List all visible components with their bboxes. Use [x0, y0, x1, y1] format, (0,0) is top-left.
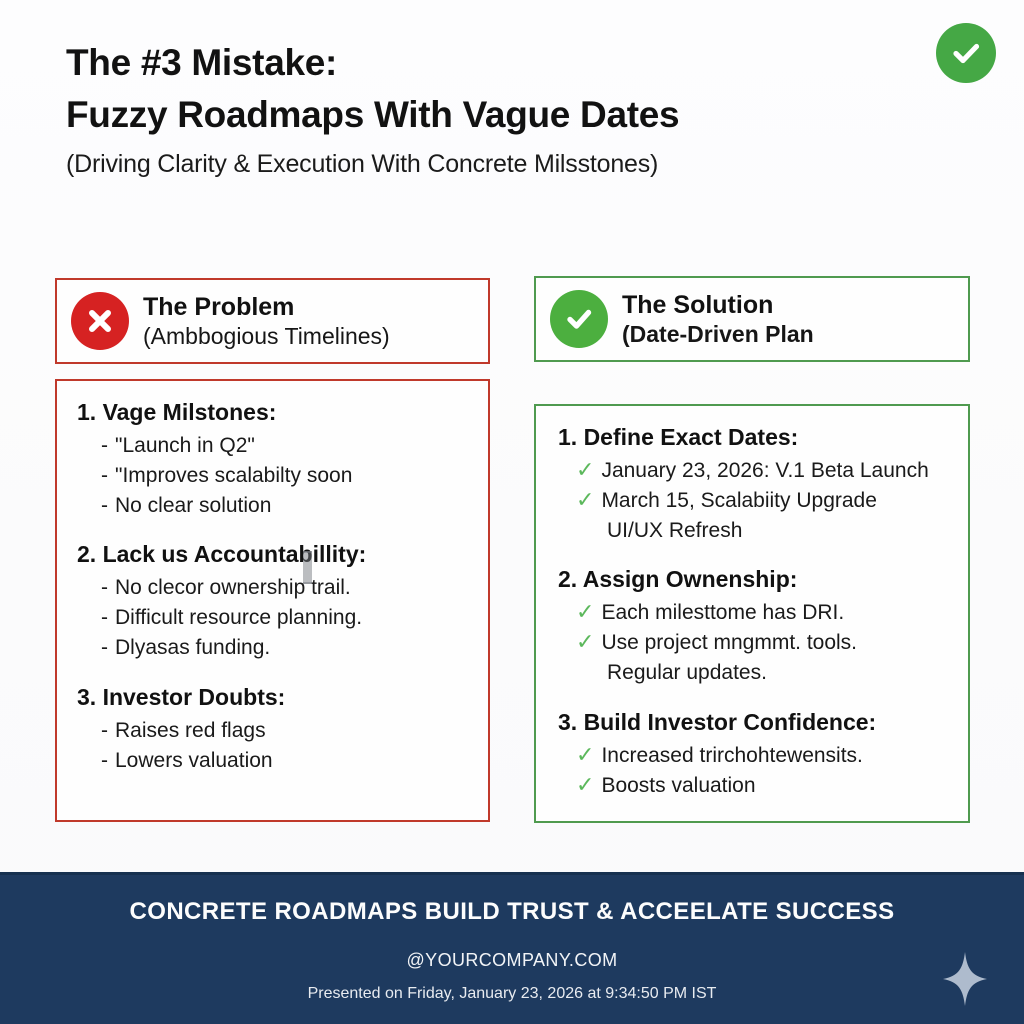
solution-heading: The Solution [622, 291, 814, 320]
list-item-label: No clecor ownership trail. [115, 573, 351, 603]
check-bullet-icon: ✓ [576, 741, 594, 770]
infographic-page: The #3 Mistake: Fuzzy Roadmaps With Vagu… [0, 0, 1024, 1024]
red-circle-x-icon [71, 292, 129, 350]
list-item: - Dlyasas funding. [77, 633, 472, 663]
solution-group-title: 2. Assign Ownenship: [558, 566, 958, 593]
list-item: Regular updates. [558, 658, 958, 688]
green-circle-check-icon [550, 290, 608, 348]
dash-bullet-icon: - [101, 716, 108, 746]
solution-group: 1. Define Exact Dates: ✓ January 23, 202… [558, 424, 958, 545]
list-item-label: Raises red flags [115, 716, 266, 746]
list-item-label: No clear solution [115, 491, 271, 521]
list-item: - Difficult resource planning. [77, 603, 472, 633]
problem-heading: The Problem [143, 293, 390, 322]
list-item-label: Boosts valuation [601, 771, 755, 801]
list-item-label: UI/UX Refresh [607, 516, 742, 546]
solution-header-text: The Solution (Date-Driven Plan [622, 291, 814, 347]
check-bullet-icon: ✓ [576, 598, 594, 627]
list-item-label: "Improves scalabilty soon [115, 461, 352, 491]
problem-subheading: (Ambbogious Timelines) [143, 323, 390, 349]
problem-header-box: The Problem (Ambbogious Timelines) [55, 278, 490, 364]
problem-group-title: 1. Vage Milstones: [77, 399, 472, 426]
dash-bullet-icon: - [101, 431, 108, 461]
dash-bullet-icon: - [101, 491, 108, 521]
list-item: ✓ Each milesttome has DRI. [558, 598, 958, 628]
problem-group: 3. Investor Doubts: - Raises red flags -… [77, 684, 472, 776]
list-item: - Lowers valuation [77, 746, 472, 776]
problem-group-title: 3. Investor Doubts: [77, 684, 472, 711]
dash-bullet-icon: - [101, 746, 108, 776]
sparkle-icon [943, 952, 987, 1006]
green-circle-check-icon [936, 23, 996, 83]
list-item: UI/UX Refresh [558, 516, 958, 546]
problem-group: 1. Vage Milstones: - "Launch in Q2" - "I… [77, 399, 472, 520]
list-item-label: Each milesttome has DRI. [601, 598, 844, 628]
solution-group-title: 1. Define Exact Dates: [558, 424, 958, 451]
list-item: - No clear solution [77, 491, 472, 521]
list-item: ✓ Increased trirchohtewensits. [558, 741, 958, 771]
list-item: ✓ Use project mngmmt. tools. [558, 628, 958, 658]
problem-content-box: 1. Vage Milstones: - "Launch in Q2" - "I… [55, 379, 490, 822]
page-subtitle: (Driving Clarity & Execution With Concre… [66, 150, 896, 179]
list-item-label: March 15, Scalabiity Upgrade [601, 486, 876, 516]
problem-header-text: The Problem (Ambbogious Timelines) [143, 293, 390, 349]
list-item-label: Regular updates. [607, 658, 767, 688]
header-badge [936, 23, 996, 83]
page-title-line-1: The #3 Mistake: [66, 38, 896, 88]
list-item-label: Difficult resource planning. [115, 603, 362, 633]
dash-bullet-icon: - [101, 573, 108, 603]
footer-headline: CONCRETE ROADMAPS BUILD TRUST & ACCEELAT… [0, 898, 1024, 926]
list-item: ✓ January 23, 2026: V.1 Beta Launch [558, 456, 958, 486]
list-item: - Raises red flags [77, 716, 472, 746]
list-item: ✓ March 15, Scalabiity Upgrade [558, 486, 958, 516]
check-bullet-icon: ✓ [576, 456, 594, 485]
solution-group: 3. Build Investor Confidence: ✓ Increase… [558, 709, 958, 801]
problem-group: 2. Lack us Accountabillity: - No clecor … [77, 541, 472, 662]
list-item-label: Lowers valuation [115, 746, 273, 776]
list-item-label: Increased trirchohtewensits. [601, 741, 862, 771]
list-item-label: Use project mngmmt. tools. [601, 628, 857, 658]
list-item-label: Dlyasas funding. [115, 633, 270, 663]
list-item: - No clecor ownership trail. [77, 573, 472, 603]
dash-bullet-icon: - [101, 461, 108, 491]
list-item-label: "Launch in Q2" [115, 431, 255, 461]
check-bullet-icon: ✓ [576, 771, 594, 800]
page-title-line-2: Fuzzy Roadmaps With Vague Dates [66, 90, 896, 140]
solution-header-box: The Solution (Date-Driven Plan [534, 276, 970, 362]
footer-banner: CONCRETE ROADMAPS BUILD TRUST & ACCEELAT… [0, 872, 1024, 1024]
list-item: - "Launch in Q2" [77, 431, 472, 461]
footer-timestamp: Presented on Friday, January 23, 2026 at… [0, 985, 1024, 1003]
page-header: The #3 Mistake: Fuzzy Roadmaps With Vagu… [66, 38, 896, 179]
list-item-label: January 23, 2026: V.1 Beta Launch [601, 456, 928, 486]
list-item: ✓ Boosts valuation [558, 771, 958, 801]
dash-bullet-icon: - [101, 603, 108, 633]
check-bullet-icon: ✓ [576, 628, 594, 657]
check-bullet-icon: ✓ [576, 486, 594, 515]
problem-group-title: 2. Lack us Accountabillity: [77, 541, 472, 568]
solution-group: 2. Assign Ownenship: ✓ Each milesttome h… [558, 566, 958, 687]
solution-group-title: 3. Build Investor Confidence: [558, 709, 958, 736]
dash-bullet-icon: - [101, 633, 108, 663]
solution-content-box: 1. Define Exact Dates: ✓ January 23, 202… [534, 404, 970, 823]
footer-handle: @YOURCOMPANY.COM [0, 950, 1024, 971]
solution-subheading: (Date-Driven Plan [622, 321, 814, 347]
list-item: - "Improves scalabilty soon [77, 461, 472, 491]
